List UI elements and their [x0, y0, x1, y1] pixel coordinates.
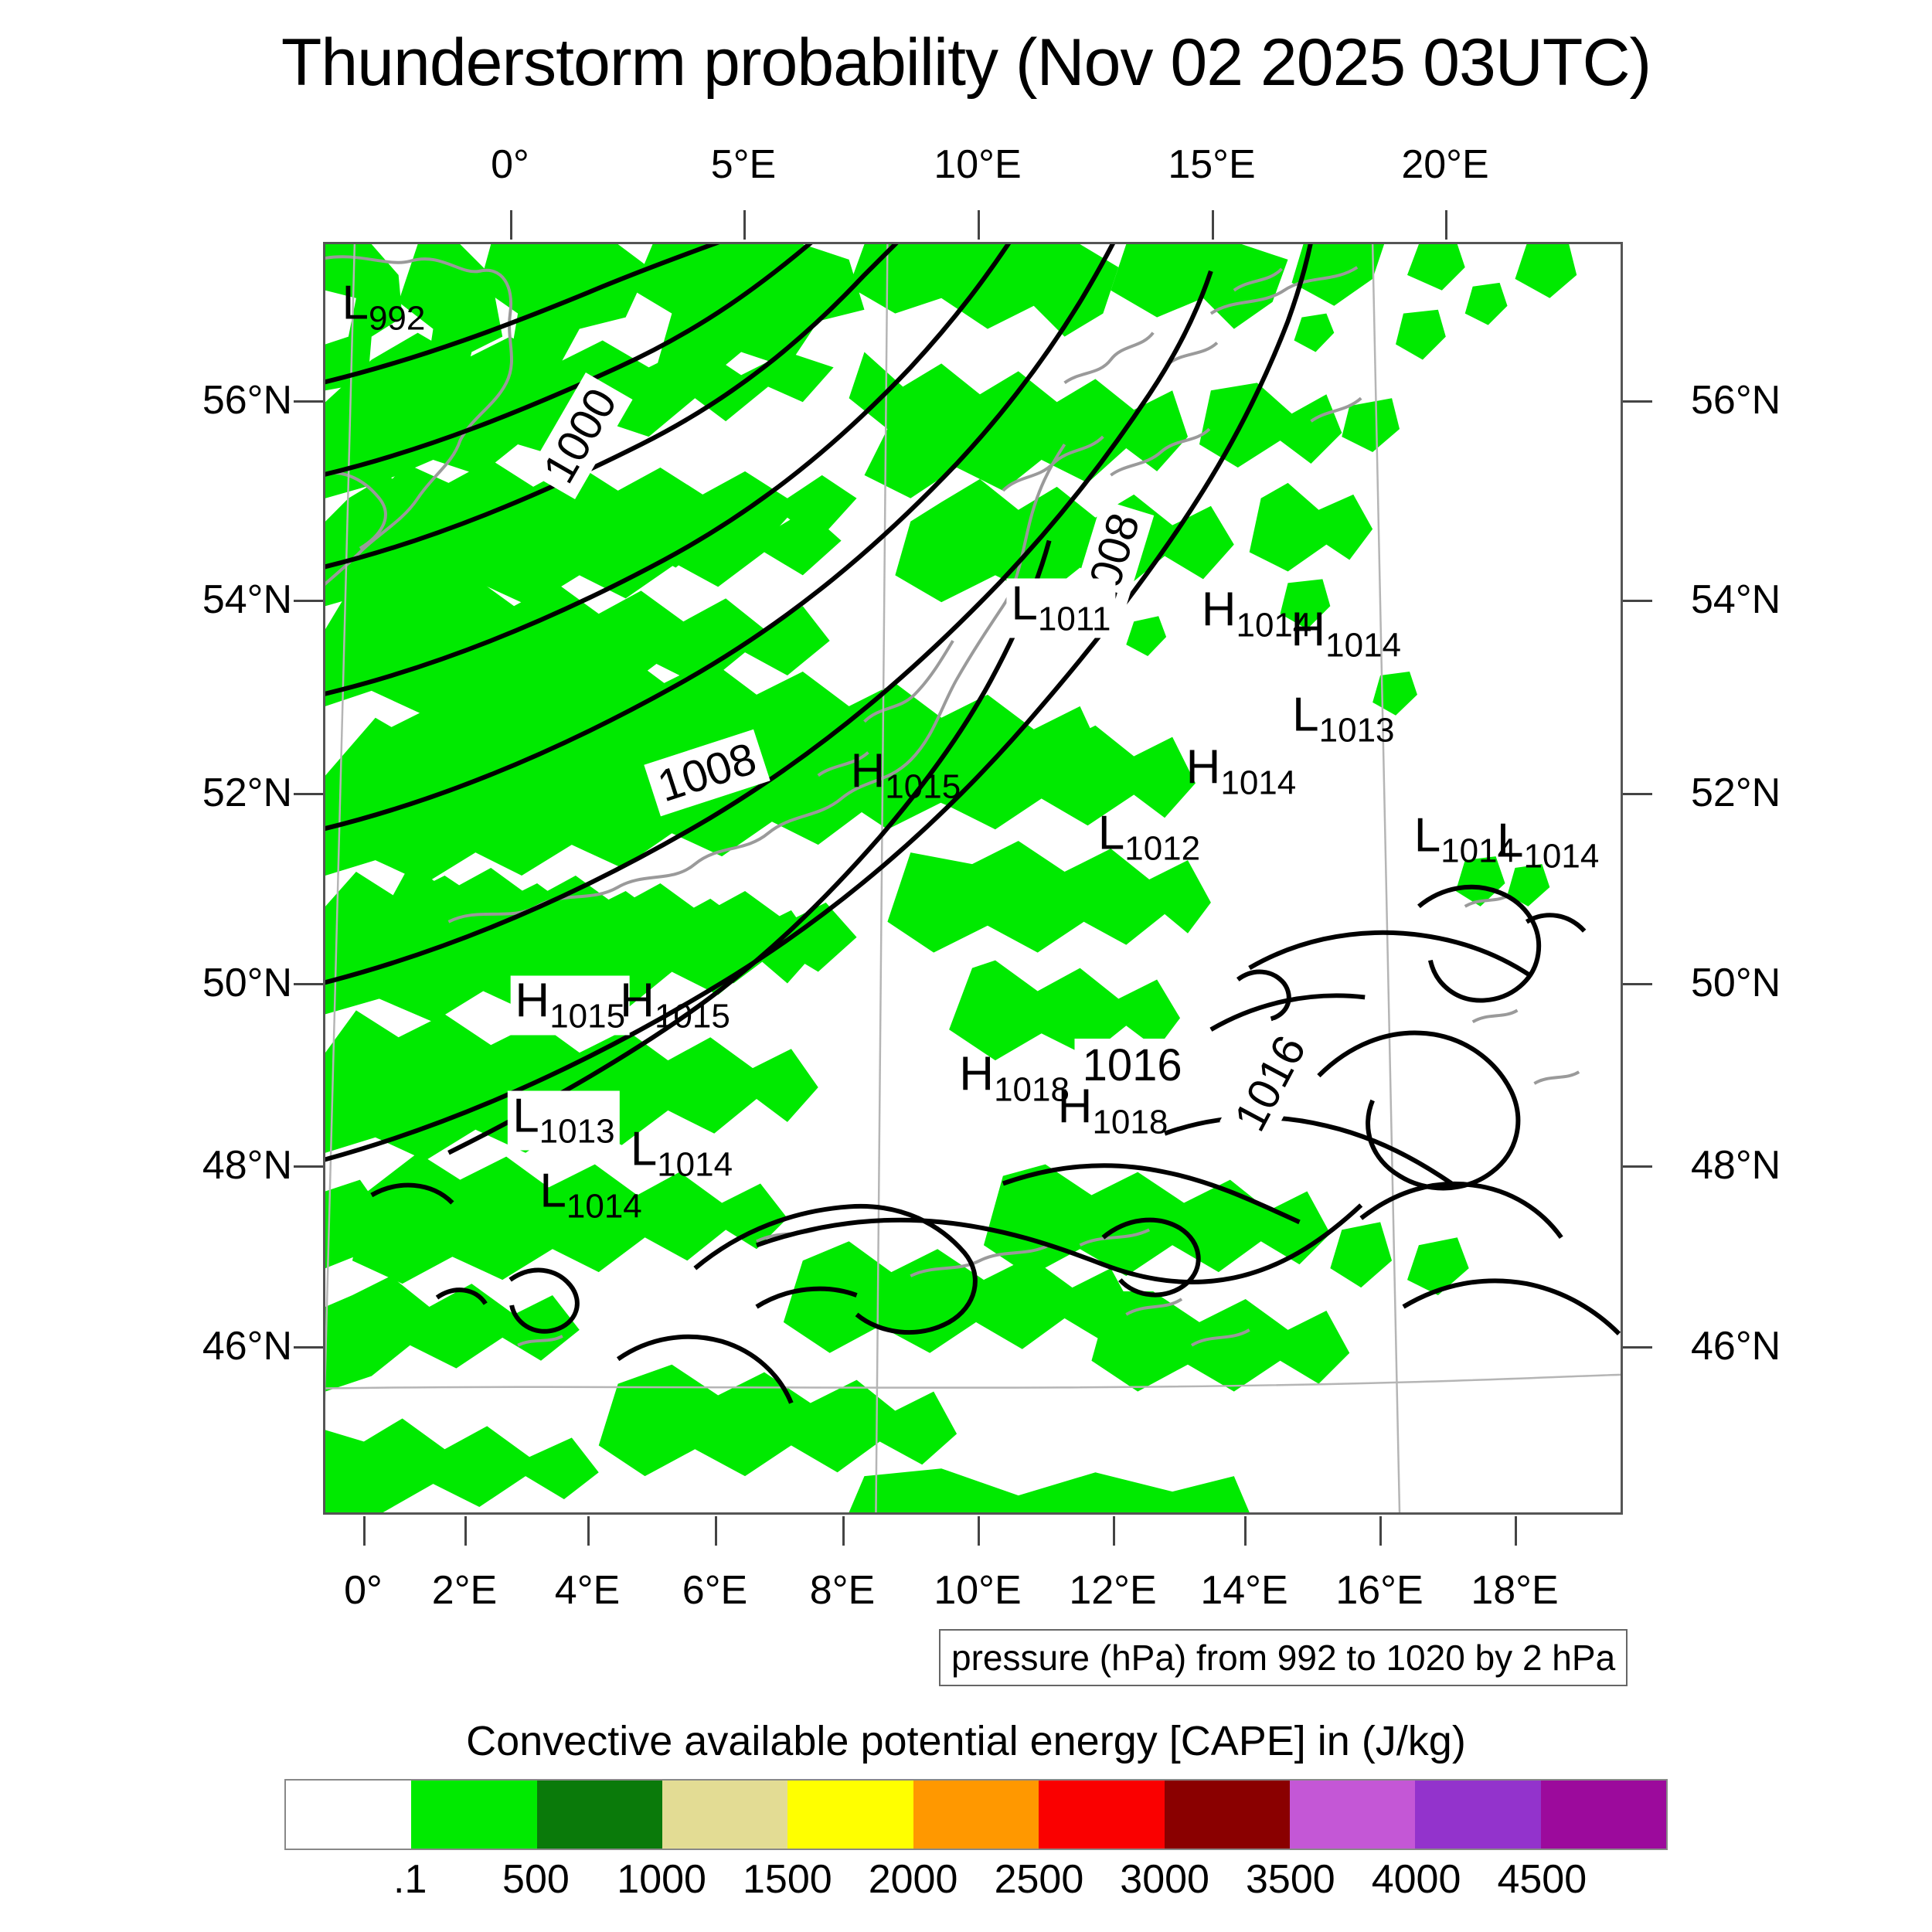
axis-tick-bottom: [363, 1516, 366, 1546]
colorbar-tick: 4500: [1497, 1856, 1587, 1903]
colorbar-tick: 4000: [1372, 1856, 1461, 1903]
axis-label-left-lat: 54°N: [114, 577, 292, 623]
colorbar-swatch-5: [913, 1781, 1039, 1849]
axis-label-right-lat: 50°N: [1691, 960, 1781, 1006]
axis-tick-right: [1623, 400, 1652, 403]
axis-tick-right: [1623, 793, 1652, 795]
axis-tick-top: [1445, 210, 1447, 240]
colorbar-tick: 3000: [1120, 1856, 1209, 1903]
axis-tick-bottom: [1113, 1516, 1115, 1546]
axis-label-right-lat: 46°N: [1691, 1323, 1781, 1369]
axis-tick-right: [1623, 1346, 1652, 1349]
colorbar-tick: 1000: [617, 1856, 706, 1903]
axis-label-bottom-lon: 18°E: [1471, 1567, 1558, 1614]
colorbar-swatch-7: [1165, 1781, 1290, 1849]
pressure-marker-H-1015: H1015: [510, 975, 630, 1035]
colorbar-tick: .1: [393, 1856, 427, 1903]
pressure-marker-H-1018: H1018: [1058, 1083, 1168, 1140]
axis-label-bottom-lon: 8°E: [810, 1567, 875, 1614]
axis-label-bottom-lon: 16°E: [1335, 1567, 1423, 1614]
axis-label-left-lat: 50°N: [114, 960, 292, 1006]
pressure-marker-H-1015: H1015: [620, 977, 730, 1033]
colorbar-tick-labels: .1 500 1000 1500 2000 2500 3000 3500 400…: [284, 1856, 1668, 1910]
axis-label-left-lat: 52°N: [114, 770, 292, 816]
axis-label-top-lon: 10°E: [934, 141, 1021, 188]
page-title: Thunderstorm probability (Nov 02 2025 03…: [0, 25, 1932, 101]
axis-tick-bottom: [978, 1516, 980, 1546]
colorbar-swatch-6: [1039, 1781, 1164, 1849]
axis-tick-top: [743, 210, 746, 240]
axis-tick-right: [1623, 983, 1652, 985]
axis-tick-bottom: [1515, 1516, 1517, 1546]
pressure-marker-L-1013: L1013: [508, 1090, 619, 1150]
colorbar-swatch-8: [1290, 1781, 1415, 1849]
axis-label-top-lon: 15°E: [1168, 141, 1255, 188]
axis-tick-left: [294, 600, 323, 602]
pressure-marker-H-1014: H1014: [1291, 607, 1401, 663]
pressure-marker-L-1014: L1014: [1497, 817, 1599, 873]
pressure-marker-H-1018: H1018: [959, 1050, 1070, 1107]
axis-tick-top: [978, 210, 980, 240]
pressure-marker-L-1014: L1014: [539, 1167, 641, 1223]
axis-label-top-lon: 0°: [491, 141, 529, 188]
colorbar-swatch-4: [787, 1781, 913, 1849]
axis-tick-left: [294, 1165, 323, 1168]
axis-label-top-lon: 20°E: [1401, 141, 1488, 188]
axis-tick-bottom: [1244, 1516, 1247, 1546]
colorbar-swatch-3: [662, 1781, 787, 1849]
colorbar-swatch-0: [286, 1781, 411, 1849]
axis-tick-left: [294, 983, 323, 985]
axis-label-right-lat: 48°N: [1691, 1142, 1781, 1189]
axis-label-left-lat: 46°N: [114, 1323, 292, 1369]
pressure-marker-H-1014: H1014: [1186, 743, 1297, 800]
axis-tick-bottom: [464, 1516, 467, 1546]
axis-label-bottom-lon: 12°E: [1069, 1567, 1156, 1614]
colorbar-title: Convective available potential energy [C…: [0, 1717, 1932, 1765]
axis-label-bottom-lon: 0°: [344, 1567, 383, 1614]
axis-tick-bottom: [1379, 1516, 1382, 1546]
pressure-marker-L-1013: L1013: [1292, 692, 1394, 748]
pressure-marker-H-1015: H1015: [851, 747, 961, 804]
axis-label-bottom-lon: 6°E: [682, 1567, 747, 1614]
axis-tick-bottom: [587, 1516, 590, 1546]
colorbar-tick: 3500: [1246, 1856, 1335, 1903]
colorbar-swatch-9: [1415, 1781, 1540, 1849]
colorbar-tick: 1500: [743, 1856, 832, 1903]
axis-tick-top: [1212, 210, 1214, 240]
axis-label-right-lat: 56°N: [1691, 377, 1781, 423]
colorbar-tick: 2500: [995, 1856, 1084, 1903]
axis-tick-left: [294, 793, 323, 795]
map-plot-area[interactable]: 1000 1008 1008 1016 1016 L992 L1011 H101…: [323, 242, 1623, 1515]
axis-label-right-lat: 52°N: [1691, 770, 1781, 816]
axis-tick-top: [510, 210, 512, 240]
axis-label-right-lat: 54°N: [1691, 577, 1781, 623]
pressure-marker-L-1012: L1012: [1098, 809, 1200, 866]
axis-tick-left: [294, 400, 323, 403]
axis-label-left-lat: 56°N: [114, 377, 292, 423]
colorbar-tick: 2000: [869, 1856, 958, 1903]
map-canvas: [325, 244, 1621, 1512]
colorbar-swatch-10: [1541, 1781, 1666, 1849]
axis-label-bottom-lon: 14°E: [1200, 1567, 1287, 1614]
axis-label-bottom-lon: 4°E: [555, 1567, 620, 1614]
axis-tick-right: [1623, 600, 1652, 602]
colorbar-swatch-1: [411, 1781, 536, 1849]
axis-label-bottom-lon: 10°E: [934, 1567, 1021, 1614]
colorbar-tick: 500: [502, 1856, 570, 1903]
colorbar-swatch-2: [537, 1781, 662, 1849]
pressure-marker-L-992: L992: [342, 280, 425, 336]
axis-label-left-lat: 48°N: [114, 1142, 292, 1189]
pressure-marker-L-1011: L1011: [1006, 578, 1115, 638]
axis-label-top-lon: 5°E: [711, 141, 776, 188]
axis-tick-bottom: [842, 1516, 845, 1546]
pressure-marker-L-1014: L1014: [631, 1125, 733, 1182]
pressure-contour-caption: pressure (hPa) from 992 to 1020 by 2 hPa: [939, 1629, 1628, 1686]
axis-tick-right: [1623, 1165, 1652, 1168]
axis-tick-left: [294, 1346, 323, 1349]
colorbar[interactable]: [284, 1779, 1668, 1850]
axis-label-bottom-lon: 2°E: [432, 1567, 497, 1614]
axis-tick-bottom: [715, 1516, 717, 1546]
